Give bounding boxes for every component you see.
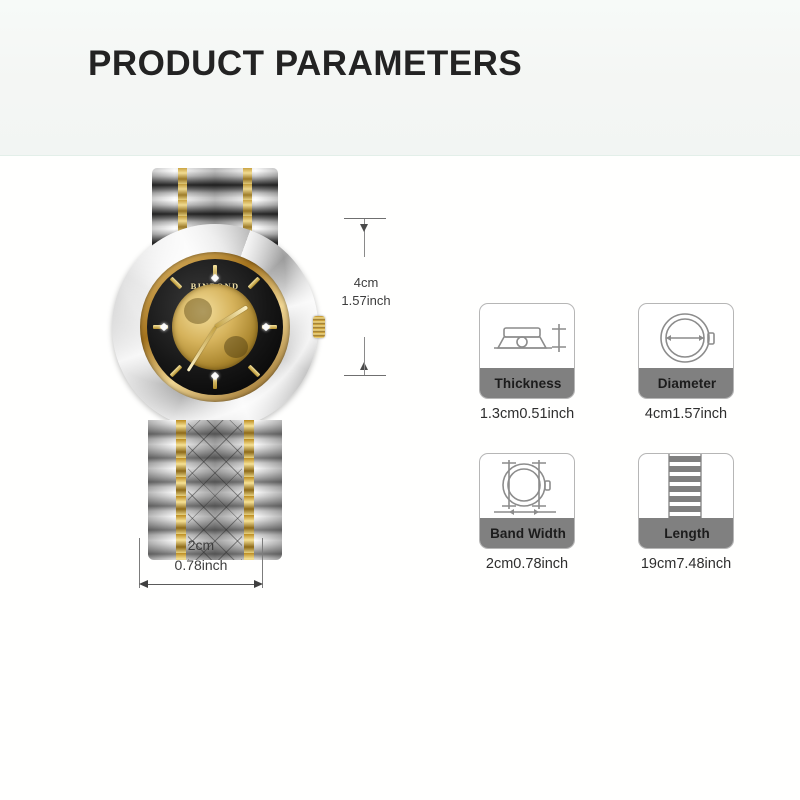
spec-label: Band Width — [480, 518, 575, 548]
product-photo: BINBOND — [100, 168, 330, 558]
spec-card[interactable]: Length — [638, 453, 734, 549]
band-width-inch: 0.78inch — [175, 557, 228, 573]
hour-marker — [170, 365, 183, 378]
page-title: PRODUCT PARAMETERS — [88, 44, 522, 84]
dimension-arrow-down-icon — [360, 224, 368, 232]
watch-top-circle-icon — [639, 304, 734, 372]
band-width-label: 2cm 0.78inch — [137, 536, 265, 575]
spec-value: 19cm7.48inch — [627, 556, 745, 572]
watch-strap-length-icon — [639, 454, 734, 522]
case-height-inch: 1.57inch — [341, 293, 390, 308]
dimension-rule — [145, 584, 257, 585]
spec-card[interactable]: Band Width — [479, 453, 575, 549]
watch-crown — [313, 316, 325, 338]
case-height-dimension: 4cm 1.57inch — [330, 212, 402, 382]
spec-label: Length — [639, 518, 734, 548]
spec-value: 2cm0.78inch — [468, 556, 586, 572]
case-height-cm: 4cm — [354, 275, 379, 290]
dimension-arrow-left-icon — [139, 580, 148, 588]
dimension-stem-bottom — [364, 337, 365, 375]
dimension-cap-top — [344, 218, 386, 219]
watch-case: BINBOND — [112, 224, 318, 430]
spec-label: Thickness — [480, 368, 575, 398]
watch-dial: BINBOND — [147, 259, 283, 395]
spec-diameter: Diameter 4cm1.57inch — [638, 303, 734, 422]
spec-card[interactable]: Thickness — [479, 303, 575, 399]
hour-marker — [248, 365, 261, 378]
spec-label: Diameter — [639, 368, 734, 398]
page-header: PRODUCT PARAMETERS — [0, 0, 800, 156]
spec-value: 1.3cm0.51inch — [468, 406, 586, 422]
spec-length: Length 19cm7.48inch — [638, 453, 734, 572]
watch-band-width-icon — [480, 454, 575, 522]
dimension-arrow-right-icon — [254, 580, 263, 588]
watch-bezel: BINBOND — [140, 252, 290, 402]
spec-row: Thickness 1.3cm0.51inch — [479, 303, 764, 422]
dimension-cap-bottom — [344, 375, 386, 376]
watch-side-profile-icon — [480, 304, 575, 372]
spec-card[interactable]: Diameter — [638, 303, 734, 399]
product-parameters-page: PRODUCT PARAMETERS BINBOND — [0, 0, 800, 800]
spec-card-grid: Thickness 1.3cm0.51inch — [479, 303, 764, 572]
spec-row: Band Width 2cm0.78inch — [479, 453, 764, 572]
case-height-label: 4cm 1.57inch — [330, 274, 402, 309]
spec-thickness: Thickness 1.3cm0.51inch — [479, 303, 575, 422]
spec-band-width: Band Width 2cm0.78inch — [479, 453, 575, 572]
band-width-cm: 2cm — [188, 537, 214, 553]
spec-value: 4cm1.57inch — [627, 406, 745, 422]
band-width-dimension: 2cm 0.78inch — [137, 534, 265, 594]
